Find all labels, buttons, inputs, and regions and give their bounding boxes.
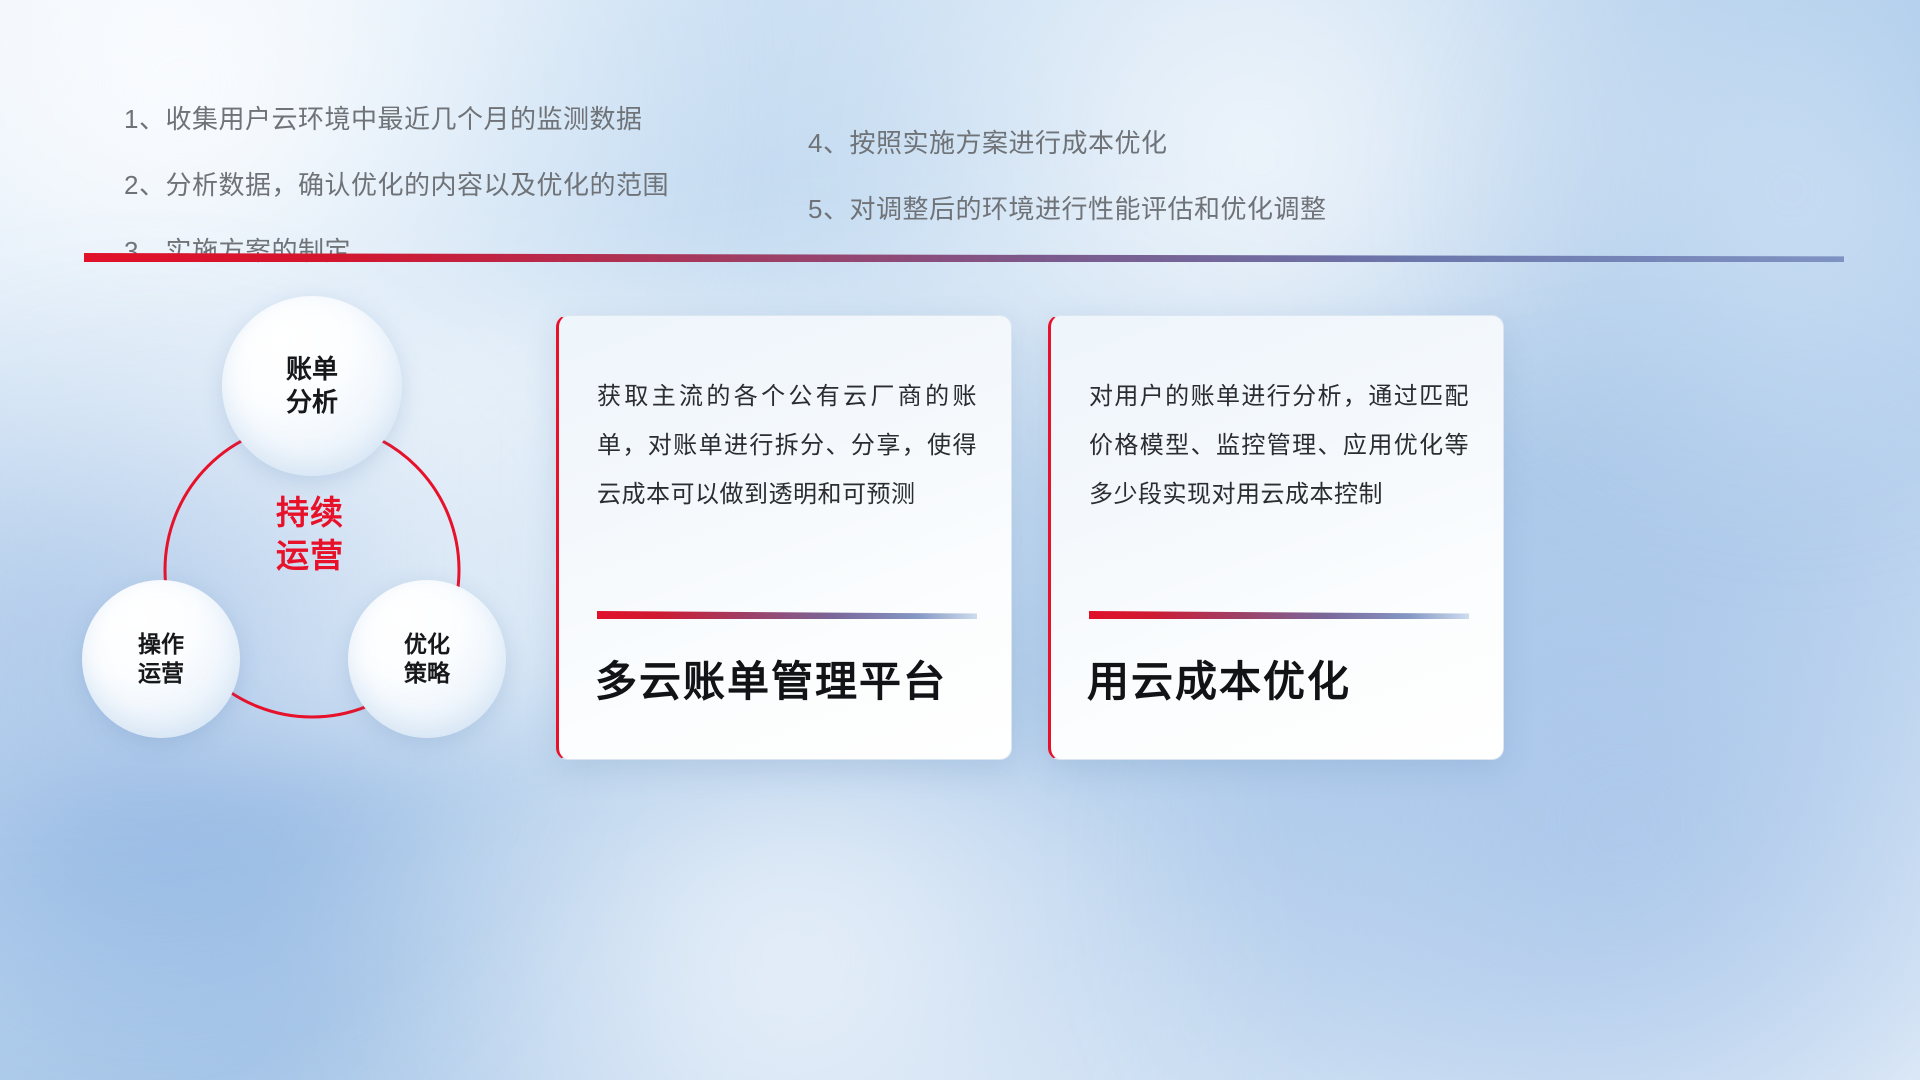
process-step: 2、分析数据，确认优化的内容以及优化的范围 (124, 165, 669, 202)
diagram-node-label-line1: 优化 (404, 630, 450, 659)
diagram-node-label-line2: 策略 (404, 659, 450, 688)
process-step: 3、实施方案的制定 (124, 231, 669, 268)
continuous-operation-diagram: 账单 分析 操作 运营 优化 策略 持续 运营 (60, 280, 560, 780)
diagram-node-label-line2: 分析 (286, 386, 338, 419)
process-steps-right: 4、按照实施方案进行成本优化 5、对调整后的环境进行性能评估和优化调整 (808, 123, 1326, 255)
diagram-node-operations[interactable]: 操作 运营 (82, 580, 240, 738)
diagram-center-label: 持续 运营 (210, 492, 410, 578)
diagram-node-bill-analysis[interactable]: 账单 分析 (222, 296, 402, 476)
diagram-node-label-line1: 账单 (286, 353, 338, 386)
feature-card-multicloud-billing[interactable]: 获取主流的各个公有云厂商的账单，对账单进行拆分、分享，使得云成本可以做到透明和可… (556, 315, 1012, 760)
diagram-node-optimization-strategy[interactable]: 优化 策略 (348, 580, 506, 738)
feature-card-divider (597, 611, 977, 619)
diagram-center-line1: 持续 (210, 492, 410, 535)
process-steps-left: 1、收集用户云环境中最近几个月的监测数据 2、分析数据，确认优化的内容以及优化的… (124, 99, 669, 297)
feature-card-title: 多云账单管理平台 (595, 648, 947, 709)
feature-card-cost-optimization[interactable]: 对用户的账单进行分析，通过匹配价格模型、监控管理、应用优化等多少段实现对用云成本… (1048, 315, 1504, 760)
diagram-center-line2: 运营 (210, 535, 410, 578)
feature-card-title: 用云成本优化 (1087, 648, 1351, 709)
diagram-node-label-line1: 操作 (138, 630, 184, 659)
feature-card-description: 获取主流的各个公有云厂商的账单，对账单进行拆分、分享，使得云成本可以做到透明和可… (597, 372, 977, 520)
process-step: 5、对调整后的环境进行性能评估和优化调整 (808, 189, 1326, 226)
feature-card-description: 对用户的账单进行分析，通过匹配价格模型、监控管理、应用优化等多少段实现对用云成本… (1089, 372, 1469, 520)
feature-card-divider (1089, 611, 1469, 619)
process-step: 4、按照实施方案进行成本优化 (808, 123, 1326, 160)
process-step: 1、收集用户云环境中最近几个月的监测数据 (124, 99, 669, 136)
diagram-node-label-line2: 运营 (138, 659, 184, 688)
